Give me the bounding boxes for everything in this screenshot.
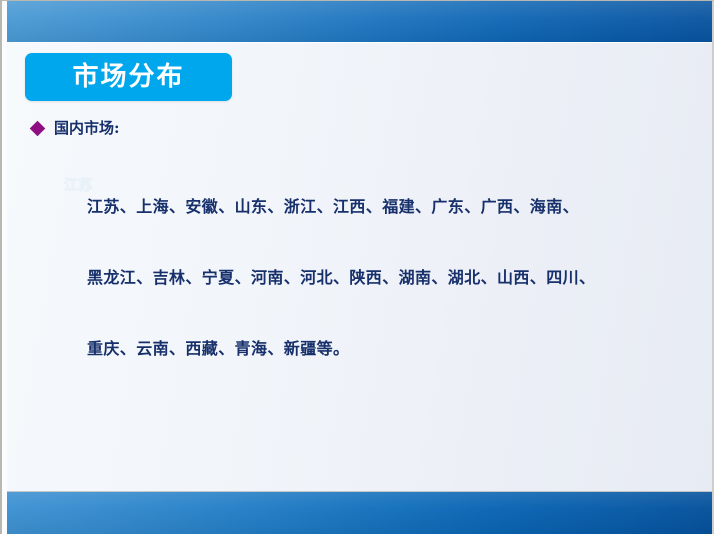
slide-canvas: 市场分布 国内市场: 江苏 江苏、上海、安徽、山东、浙江、江西、福建、广东、广西… — [0, 0, 714, 534]
slide-title-text: 市场分布 — [72, 64, 184, 90]
top-band-shading — [2, 1, 714, 42]
body-line-3: 重庆、云南、西藏、青海、新疆等。 — [87, 337, 697, 408]
bottom-decoration-band — [2, 492, 714, 534]
bullet-heading-row: 国内市场: — [32, 121, 120, 136]
body-text-block: 江苏、上海、安徽、山东、浙江、江西、福建、广东、广西、海南、 黑龙江、吉林、宁夏… — [87, 195, 697, 408]
top-decoration-band — [2, 1, 714, 42]
slide-title-plate: 市场分布 — [25, 53, 232, 101]
bottom-band-shading — [2, 492, 714, 534]
body-line-2: 黑龙江、吉林、宁夏、河南、河北、陕西、湖南、湖北、山西、四川、 — [87, 266, 697, 337]
top-band-edge-line — [2, 42, 714, 43]
diamond-bullet-icon — [30, 121, 46, 137]
bullet-heading-label: 国内市场: — [54, 121, 120, 136]
body-line-1: 江苏、上海、安徽、山东、浙江、江西、福建、广东、广西、海南、 — [87, 195, 697, 266]
ghost-text-artifact: 江苏 — [64, 179, 93, 193]
left-gutter-strip — [2, 1, 7, 534]
